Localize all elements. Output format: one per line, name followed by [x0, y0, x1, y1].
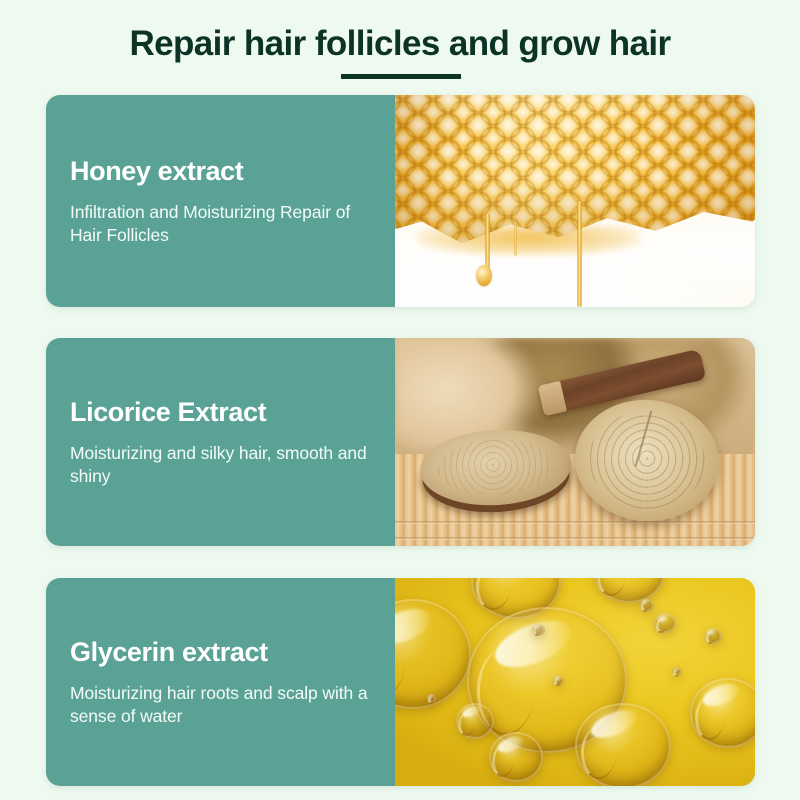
page-header: Repair hair follicles and grow hair: [0, 0, 800, 90]
card-title: Glycerin extract: [70, 636, 373, 668]
golden-oil-droplets-photo: [395, 578, 755, 786]
honey-droplet: [476, 265, 492, 286]
honey-strand-left: [485, 214, 490, 273]
licorice-root-slices-photo: [395, 338, 755, 546]
oil-bubble: [395, 599, 471, 709]
oil-bubble: [575, 703, 671, 786]
title-underline-accent: [341, 74, 461, 79]
card-text-panel: Glycerin extract Moisturizing hair roots…: [46, 578, 395, 786]
ingredient-card-honey[interactable]: Honey extract Infiltration and Moisturiz…: [46, 95, 755, 307]
page-title: Repair hair follicles and grow hair: [0, 22, 800, 66]
oil-bubble: [654, 613, 676, 633]
card-title: Licorice Extract: [70, 396, 373, 428]
honeycomb-shading: [395, 95, 755, 243]
card-description: Moisturizing and silky hair, smooth and …: [70, 442, 373, 488]
honeycomb-dripping-honey-photo: [395, 95, 755, 307]
bamboo-mat-seam: [395, 537, 755, 540]
oil-bubble: [672, 667, 682, 676]
ingredient-card-licorice[interactable]: Licorice Extract Moisturizing and silky …: [46, 338, 755, 546]
bamboo-mat-seam: [395, 521, 755, 524]
ingredient-card-glycerin[interactable]: Glycerin extract Moisturizing hair roots…: [46, 578, 755, 786]
oil-bubble: [456, 703, 494, 739]
card-title: Honey extract: [70, 155, 373, 187]
card-text-panel: Honey extract Infiltration and Moisturiz…: [46, 95, 395, 307]
oil-bubble: [705, 628, 722, 644]
oil-bubble: [489, 732, 543, 782]
card-description: Infiltration and Moisturizing Repair of …: [70, 201, 373, 247]
honey-strand-middle: [514, 222, 517, 256]
oil-bubble: [532, 624, 545, 636]
oil-bubble: [593, 578, 665, 603]
oil-bubble: [690, 678, 755, 748]
oil-bubble: [640, 599, 654, 612]
card-text-panel: Licorice Extract Moisturizing and silky …: [46, 338, 395, 546]
honey-strand-right: [577, 201, 582, 307]
card-description: Moisturizing hair roots and scalp with a…: [70, 682, 373, 728]
honeycomb-slab: [395, 95, 755, 243]
